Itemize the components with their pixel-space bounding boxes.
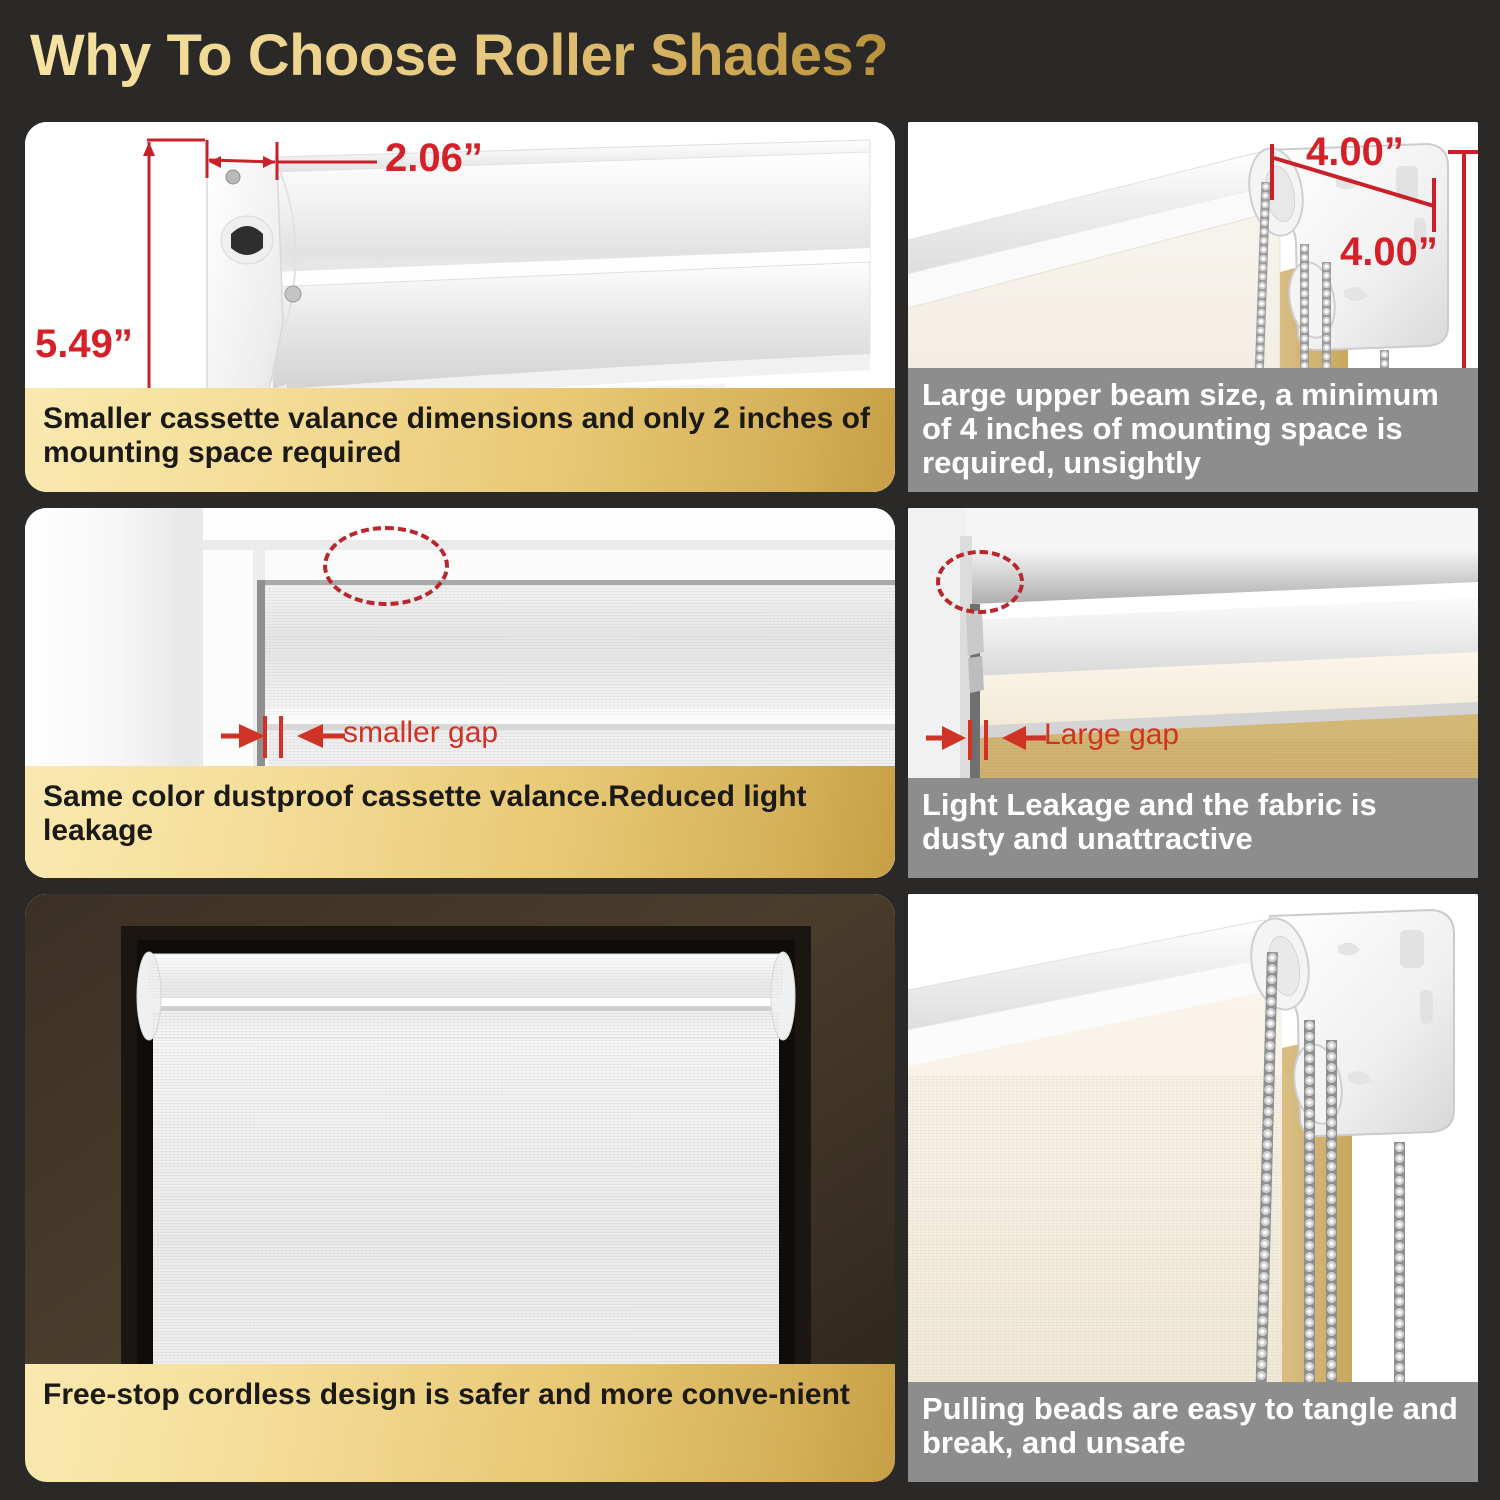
bracket-width-label: 4.00” bbox=[1306, 130, 1404, 175]
bracket-height-label: 4.00” bbox=[1340, 230, 1438, 275]
caption-bottom-right: Pulling beads are easy to tangle and bre… bbox=[908, 1382, 1478, 1482]
page-title: Why To Choose Roller Shades? bbox=[30, 22, 888, 89]
smaller-gap-label: smaller gap bbox=[343, 716, 498, 750]
panel-middle-right: Large gap Light Leakage and the fabric i… bbox=[908, 508, 1478, 878]
panel-top-left: 2.06” 5.49” Smaller cassette valance dim… bbox=[25, 122, 895, 492]
caption-middle-right: Light Leakage and the fabric is dusty an… bbox=[908, 778, 1478, 878]
panel-middle-left: smaller gap Same color dustproof cassett… bbox=[25, 508, 895, 878]
panel-bottom-right: Pulling beads are easy to tangle and bre… bbox=[908, 894, 1478, 1482]
height-dimension-label: 5.49” bbox=[35, 322, 133, 367]
caption-top-left: Smaller cassette valance dimensions and … bbox=[25, 388, 895, 492]
panel-top-right: 4.00” 4.00” Large upper beam size, a min… bbox=[908, 122, 1478, 492]
caption-middle-left: Same color dustproof cassette valance.Re… bbox=[25, 766, 895, 878]
infographic-root: Why To Choose Roller Shades? bbox=[0, 0, 1500, 1500]
caption-top-right: Large upper beam size, a minimum of 4 in… bbox=[908, 368, 1478, 492]
caption-bottom-left: Free-stop cordless design is safer and m… bbox=[25, 1364, 895, 1482]
valance-fabric-texture bbox=[149, 958, 783, 998]
panel-bottom-left: Free-stop cordless design is safer and m… bbox=[25, 894, 895, 1482]
large-gap-label: Large gap bbox=[1044, 718, 1179, 752]
